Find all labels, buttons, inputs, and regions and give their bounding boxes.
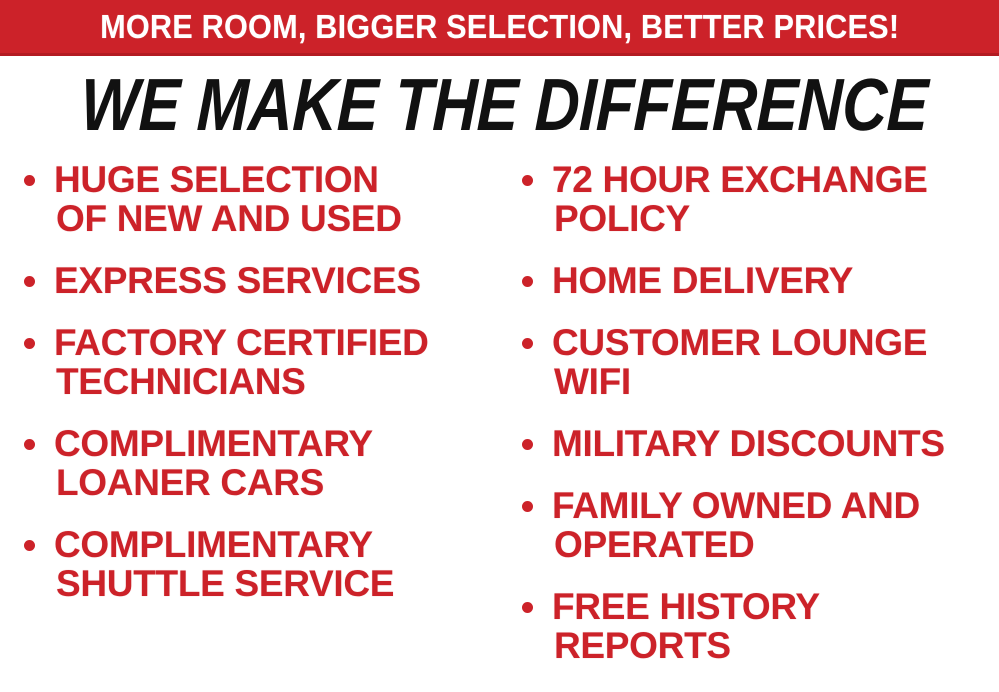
benefit-label: COMPLIMENTARY bbox=[54, 524, 373, 565]
benefit-label-line2: OPERATED bbox=[554, 525, 995, 564]
bullet-dot-icon bbox=[24, 540, 35, 551]
bullet-dot-icon bbox=[522, 276, 533, 287]
benefit-label: FREE HISTORY bbox=[552, 586, 820, 627]
benefit-item: HUGE SELECTIONOF NEW AND USED bbox=[10, 160, 490, 238]
benefit-item: COMPLIMENTARYSHUTTLE SERVICE bbox=[10, 525, 490, 603]
bullet-dot-icon bbox=[24, 276, 35, 287]
benefit-label-line2: LOANER CARS bbox=[56, 463, 490, 502]
main-headline-text: WE MAKE THE DIFFERENCE bbox=[80, 68, 929, 142]
benefit-label: FACTORY CERTIFIED bbox=[54, 322, 429, 363]
bullet-dot-icon bbox=[522, 439, 533, 450]
benefit-label: EXPRESS SERVICES bbox=[54, 260, 421, 301]
benefit-label: 72 HOUR EXCHANGE bbox=[552, 159, 928, 200]
benefit-item: MILITARY DISCOUNTS bbox=[508, 424, 995, 463]
benefit-label-line2: REPORTS bbox=[554, 626, 995, 665]
benefit-label-line2: TECHNICIANS bbox=[56, 362, 490, 401]
bullet-dot-icon bbox=[24, 338, 35, 349]
bullet-dot-icon bbox=[24, 439, 35, 450]
benefit-label-line2: OF NEW AND USED bbox=[56, 199, 490, 238]
benefit-item: HOME DELIVERY bbox=[508, 261, 995, 300]
benefit-item: FREE HISTORYREPORTS bbox=[508, 587, 995, 665]
bullet-dot-icon bbox=[522, 602, 533, 613]
banner-headline-text: MORE ROOM, BIGGER SELECTION, BETTER PRIC… bbox=[100, 10, 899, 43]
benefit-item: FACTORY CERTIFIEDTECHNICIANS bbox=[10, 323, 490, 401]
benefit-item: 72 HOUR EXCHANGEPOLICY bbox=[508, 160, 995, 238]
bullet-dot-icon bbox=[24, 175, 35, 186]
benefit-label: MILITARY DISCOUNTS bbox=[552, 423, 945, 464]
bullet-dot-icon bbox=[522, 338, 533, 349]
benefit-label: CUSTOMER LOUNGE bbox=[552, 322, 927, 363]
benefit-item: CUSTOMER LOUNGEWIFI bbox=[508, 323, 995, 401]
benefit-label: HUGE SELECTION bbox=[54, 159, 379, 200]
main-headline: WE MAKE THE DIFFERENCE bbox=[0, 68, 999, 142]
top-banner: MORE ROOM, BIGGER SELECTION, BETTER PRIC… bbox=[0, 0, 999, 56]
benefit-label: FAMILY OWNED AND bbox=[552, 485, 920, 526]
benefit-label: COMPLIMENTARY bbox=[54, 423, 373, 464]
benefit-label-line2: WIFI bbox=[554, 362, 995, 401]
benefit-label-line2: POLICY bbox=[554, 199, 995, 238]
bullet-dot-icon bbox=[522, 175, 533, 186]
benefit-item: FAMILY OWNED ANDOPERATED bbox=[508, 486, 995, 564]
benefit-item: EXPRESS SERVICES bbox=[10, 261, 490, 300]
benefit-label-line2: SHUTTLE SERVICE bbox=[56, 564, 490, 603]
benefit-item: COMPLIMENTARYLOANER CARS bbox=[10, 424, 490, 502]
bullet-dot-icon bbox=[522, 501, 533, 512]
benefits-column-left: HUGE SELECTIONOF NEW AND USEDEXPRESS SER… bbox=[10, 160, 490, 626]
advertisement-poster: MORE ROOM, BIGGER SELECTION, BETTER PRIC… bbox=[0, 0, 999, 692]
benefits-column-right: 72 HOUR EXCHANGEPOLICYHOME DELIVERYCUSTO… bbox=[508, 160, 995, 688]
benefit-label: HOME DELIVERY bbox=[552, 260, 853, 301]
